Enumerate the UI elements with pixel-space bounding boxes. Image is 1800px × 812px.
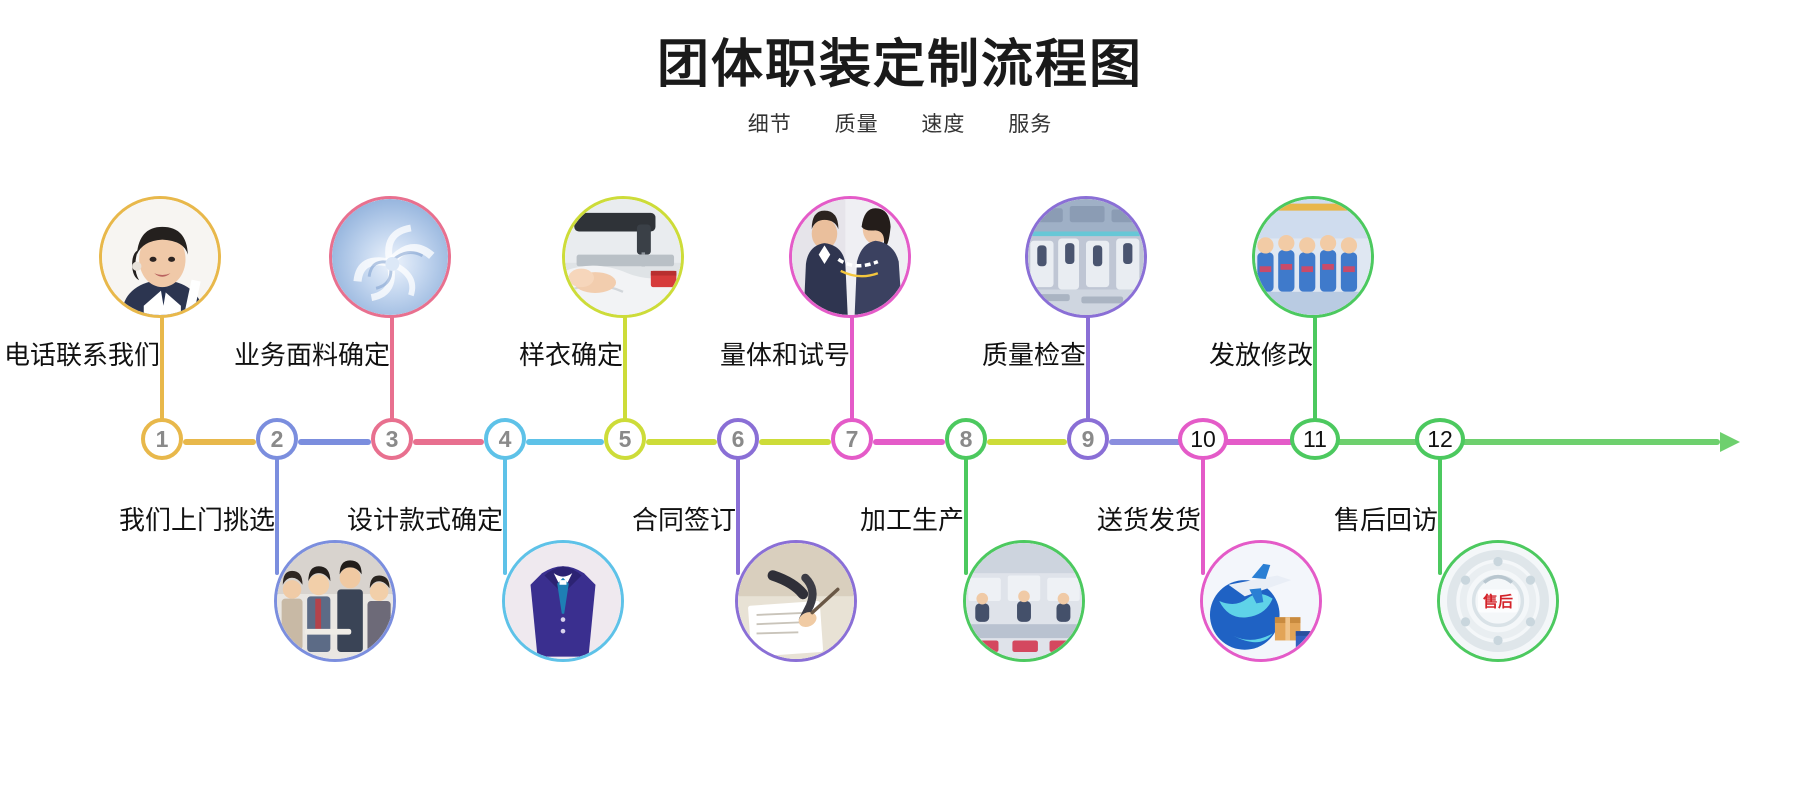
subtitle-keywords: 细节 质量 速度 服务 (0, 108, 1800, 138)
timeline-node-4[interactable]: 4 (484, 418, 526, 460)
timeline-stem (623, 305, 627, 423)
photo-artwork (1028, 199, 1144, 315)
step-photo-measuring-body[interactable] (789, 196, 911, 318)
step-photo-quality-inspection[interactable] (1025, 196, 1147, 318)
photo-artwork (332, 199, 448, 315)
page-title: 团体职装定制流程图 (0, 22, 1800, 97)
step-photo-suit-design[interactable] (502, 540, 624, 662)
photo-artwork (1255, 199, 1371, 315)
timeline-node-1[interactable]: 1 (141, 418, 183, 460)
timeline-segment (873, 439, 945, 445)
photo-artwork (102, 199, 218, 315)
photo-artwork (792, 199, 908, 315)
timeline-segment (1336, 439, 1419, 445)
timeline-arrow-icon (1720, 432, 1740, 452)
step-label-12: 售后回访 (1334, 500, 1438, 537)
step-label-11: 发放修改 (1209, 335, 1313, 372)
photo-artwork (966, 543, 1082, 659)
step-label-10: 送货发货 (1097, 500, 1201, 537)
photo-artwork (277, 543, 393, 659)
infographic-canvas: 团体职装定制流程图 细节 质量 速度 服务 1电话联系我们 2我们上门挑选 (0, 0, 1800, 812)
step-photo-service-agent[interactable] (99, 196, 221, 318)
step-photo-uniform-team[interactable] (1252, 196, 1374, 318)
subtitle-item-3: 服务 (1008, 113, 1052, 136)
timeline-stem (1313, 305, 1317, 423)
timeline-node-10[interactable]: 10 (1178, 418, 1228, 460)
timeline-node-12[interactable]: 12 (1415, 418, 1465, 460)
timeline-segment (987, 439, 1067, 445)
photo-artwork (565, 199, 681, 315)
step-photo-showroom-visit[interactable] (274, 540, 396, 662)
timeline-segment (1224, 439, 1294, 445)
photo-artwork (505, 543, 621, 659)
photo-artwork (738, 543, 854, 659)
step-label-7: 量体和试号 (720, 335, 850, 372)
step-label-4: 设计款式确定 (347, 500, 503, 537)
timeline-segment (759, 439, 831, 445)
step-label-8: 加工生产 (860, 500, 964, 537)
step-label-6: 合同签订 (632, 500, 736, 537)
photo-artwork (1203, 543, 1319, 659)
step-label-2: 我们上门挑选 (119, 500, 275, 537)
step-photo-sewing-machine[interactable] (562, 196, 684, 318)
timeline-node-11[interactable]: 11 (1290, 418, 1340, 460)
step-photo-fabric-swirl[interactable] (329, 196, 451, 318)
timeline-segment (298, 439, 371, 445)
timeline-stem (1086, 305, 1090, 423)
timeline-segment (1109, 439, 1182, 445)
photo-artwork: 售后 (1440, 543, 1556, 659)
after-sales-stamp: 售后 (1478, 590, 1518, 613)
timeline-stem (160, 305, 164, 423)
step-label-3: 业务面料确定 (234, 335, 390, 372)
timeline-node-5[interactable]: 5 (604, 418, 646, 460)
step-photo-delivery-logistics[interactable] (1200, 540, 1322, 662)
timeline-node-6[interactable]: 6 (717, 418, 759, 460)
subtitle-item-1: 质量 (835, 113, 879, 136)
timeline-node-7[interactable]: 7 (831, 418, 873, 460)
step-label-1: 电话联系我们 (4, 335, 160, 372)
step-photo-contract-signing[interactable] (735, 540, 857, 662)
timeline-node-2[interactable]: 2 (256, 418, 298, 460)
subtitle-item-2: 速度 (921, 113, 965, 136)
step-photo-production-line[interactable] (963, 540, 1085, 662)
timeline-end-segment (1461, 439, 1720, 445)
timeline-node-8[interactable]: 8 (945, 418, 987, 460)
subtitle-item-0: 细节 (748, 113, 792, 136)
timeline-segment (646, 439, 717, 445)
timeline-segment (526, 439, 604, 445)
timeline-stem (390, 305, 394, 423)
step-photo-after-sales[interactable]: 售后 (1437, 540, 1559, 662)
step-label-5: 样衣确定 (519, 335, 623, 372)
timeline-node-3[interactable]: 3 (371, 418, 413, 460)
step-label-9: 质量检查 (982, 335, 1086, 372)
timeline-stem (850, 305, 854, 423)
timeline-node-9[interactable]: 9 (1067, 418, 1109, 460)
timeline-segment (413, 439, 484, 445)
timeline-segment (183, 439, 256, 445)
